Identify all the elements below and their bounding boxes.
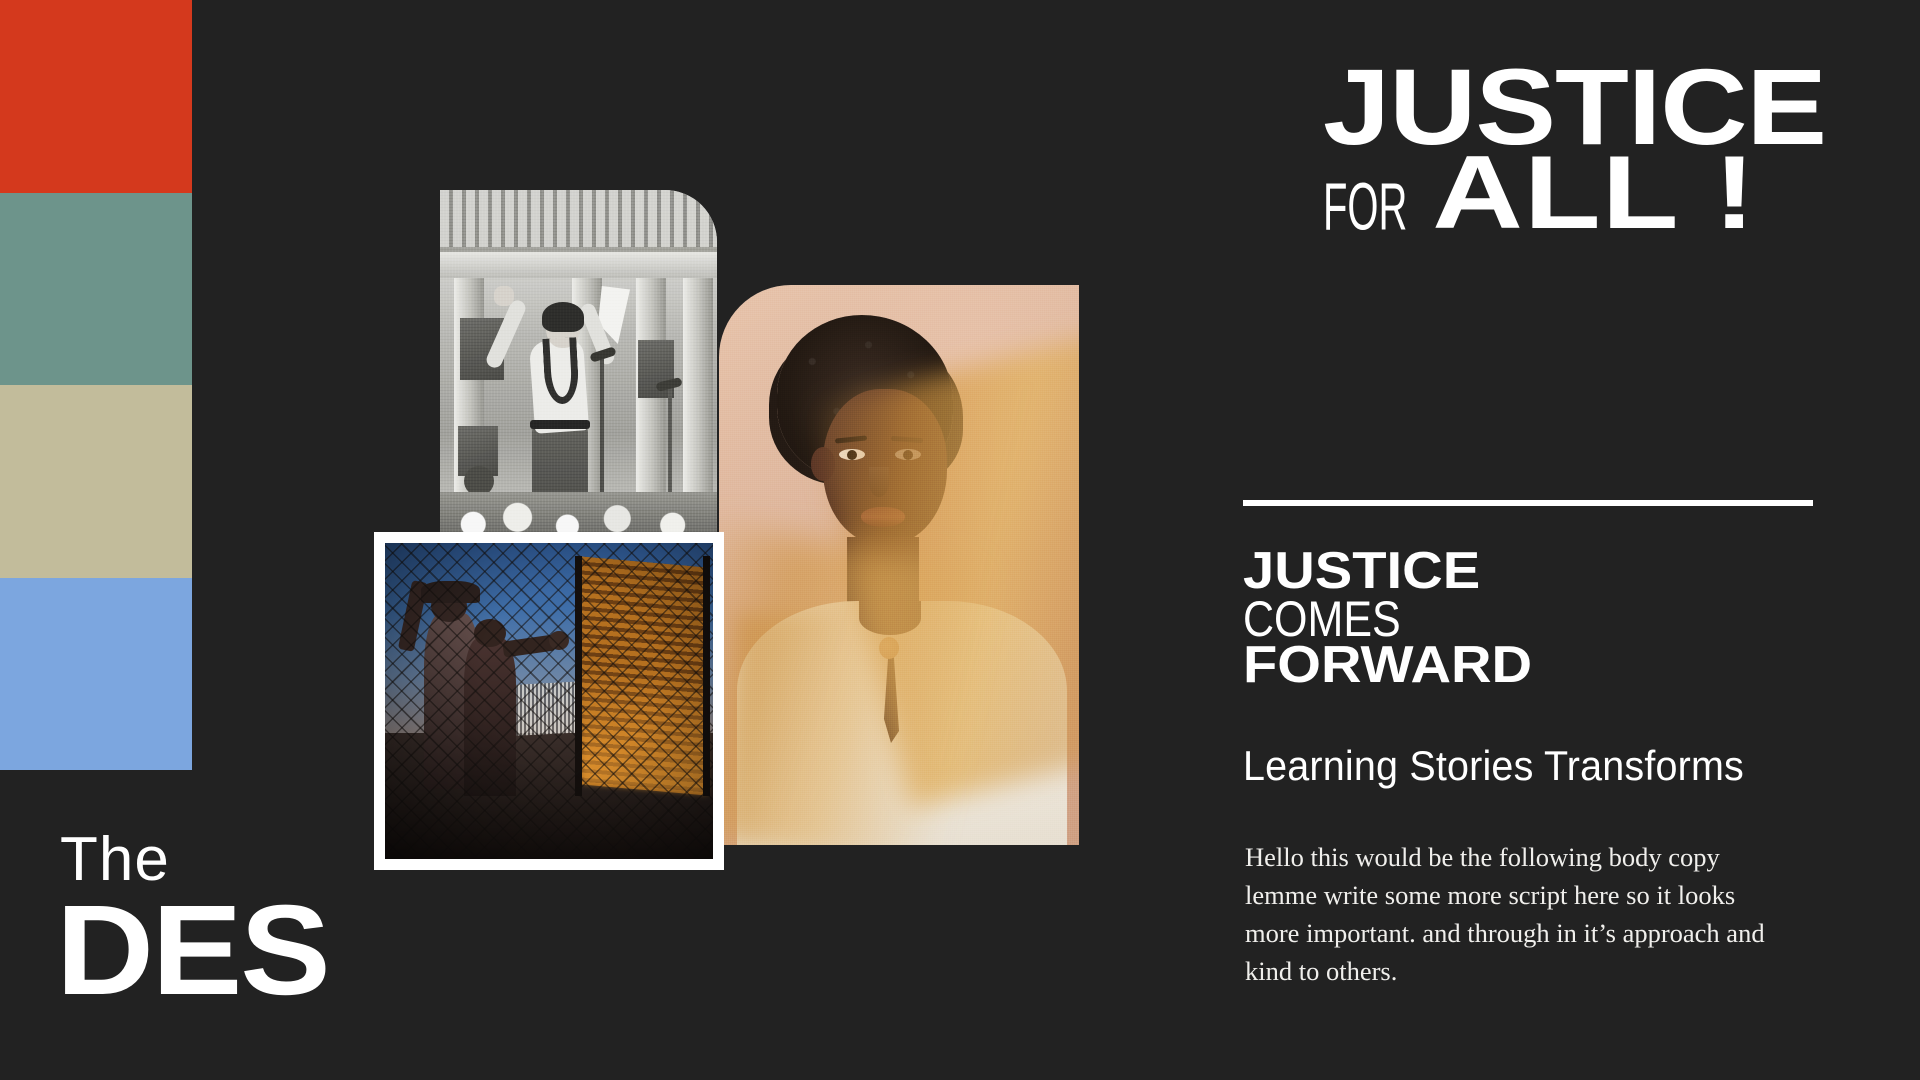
headline-second-row: FOR ALL ! (1323, 152, 1864, 235)
portrait-photo-canvas (719, 285, 1079, 845)
subhead-line-forward: FORWARD (1243, 642, 1848, 690)
photo-protest-speaker (440, 190, 717, 538)
tagline: Learning Stories Transforms (1243, 742, 1744, 790)
body-copy: Hello this would be the following body c… (1245, 838, 1785, 991)
subheadline-block: JUSTICE COMES FORWARD (1243, 548, 1803, 690)
subhead-line-justice: JUSTICE (1243, 548, 1848, 596)
headline-all: ALL ! (1432, 152, 1756, 235)
photo-portrait (719, 285, 1079, 845)
horizontal-rule (1243, 500, 1813, 506)
protest-photo-canvas (440, 190, 717, 538)
right-content-column: JUSTICE FOR ALL ! JUSTICE COMES FORWARD … (1243, 0, 1843, 1080)
headline-for: FOR (1323, 181, 1407, 236)
fence-photo-canvas (385, 543, 713, 859)
poster-canvas: The DES (0, 0, 1920, 1080)
photo-border-fence (374, 532, 724, 870)
main-headline: JUSTICE FOR ALL ! (1323, 64, 1843, 236)
